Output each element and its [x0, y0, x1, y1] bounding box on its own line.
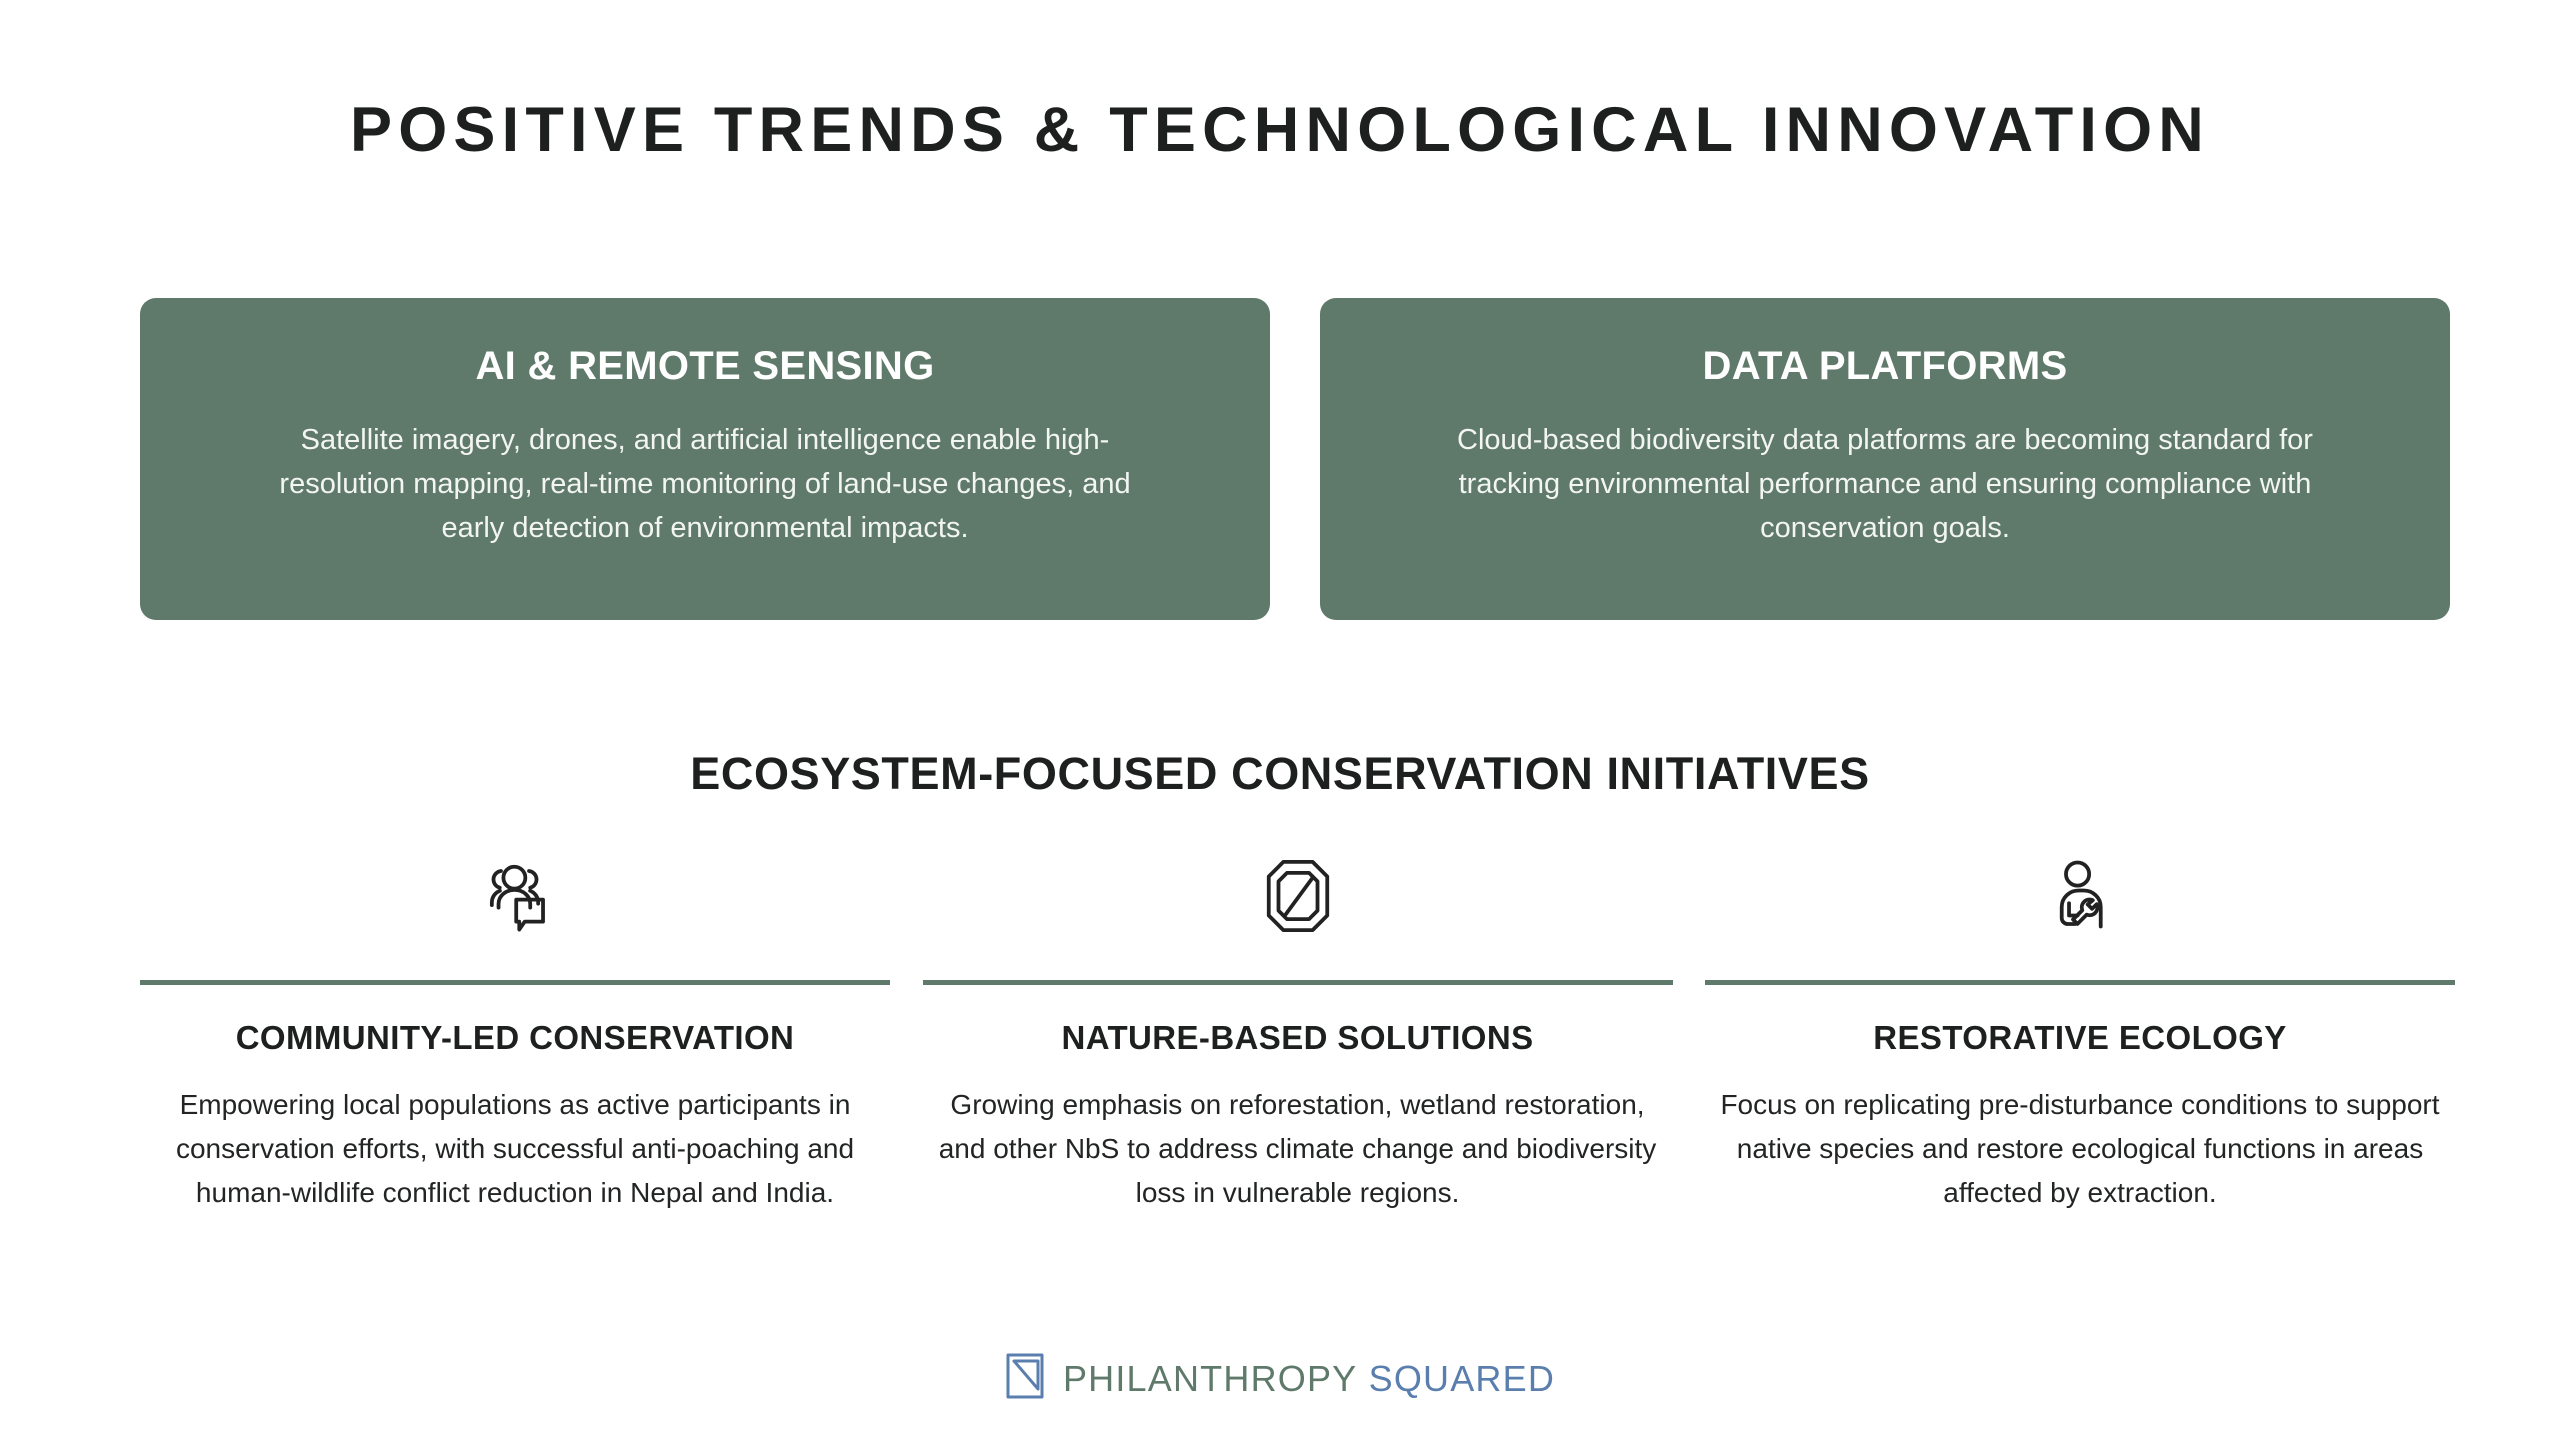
initiative-column-restorative-ecology: RESTORATIVE ECOLOGY Focus on replicating…	[1705, 848, 2455, 1216]
initiative-title: COMMUNITY-LED CONSERVATION	[236, 1019, 795, 1057]
initiative-body: Growing emphasis on reforestation, wetla…	[938, 1083, 1658, 1216]
card-title: DATA PLATFORMS	[1703, 344, 2068, 388]
initiative-title: NATURE-BASED SOLUTIONS	[1061, 1019, 1533, 1057]
initiative-column-community-led-conservation: COMMUNITY-LED CONSERVATION Empowering lo…	[140, 848, 890, 1216]
emerald-gem-icon	[1262, 848, 1334, 944]
initiative-body: Empowering local populations as active p…	[155, 1083, 875, 1216]
column-divider	[1705, 980, 2455, 985]
column-divider	[140, 980, 890, 985]
slide-canvas: POSITIVE TRENDS & TECHNOLOGICAL INNOVATI…	[0, 0, 2560, 1440]
brand-logo: PHILANTHROPY SQUARED	[0, 1352, 2560, 1405]
feature-cards-row: AI & REMOTE SENSING Satellite imagery, d…	[140, 298, 2450, 620]
initiative-column-nature-based-solutions: NATURE-BASED SOLUTIONS Growing emphasis …	[923, 848, 1673, 1216]
initiatives-columns-row: COMMUNITY-LED CONSERVATION Empowering lo…	[140, 848, 2455, 1216]
card-title: AI & REMOTE SENSING	[475, 344, 934, 388]
section-heading: ECOSYSTEM-FOCUSED CONSERVATION INITIATIV…	[0, 748, 2560, 800]
brand-logo-secondary: SQUARED	[1369, 1358, 1555, 1399]
person-wrench-icon	[2044, 848, 2116, 944]
card-body: Cloud-based biodiversity data platforms …	[1435, 418, 2335, 550]
feature-card-data-platforms: DATA PLATFORMS Cloud-based biodiversity …	[1320, 298, 2450, 620]
people-group-chat-icon	[476, 848, 554, 944]
column-divider	[923, 980, 1673, 985]
initiative-title: RESTORATIVE ECOLOGY	[1873, 1019, 2286, 1057]
page-title: POSITIVE TRENDS & TECHNOLOGICAL INNOVATI…	[0, 96, 2560, 165]
initiative-body: Focus on replicating pre-disturbance con…	[1720, 1083, 2440, 1216]
card-body: Satellite imagery, drones, and artificia…	[255, 418, 1155, 550]
brand-logo-text: PHILANTHROPY SQUARED	[1063, 1358, 1555, 1400]
document-diagonal-mark-icon	[1005, 1352, 1049, 1405]
feature-card-ai-remote-sensing: AI & REMOTE SENSING Satellite imagery, d…	[140, 298, 1270, 620]
brand-logo-primary: PHILANTHROPY	[1063, 1358, 1357, 1399]
